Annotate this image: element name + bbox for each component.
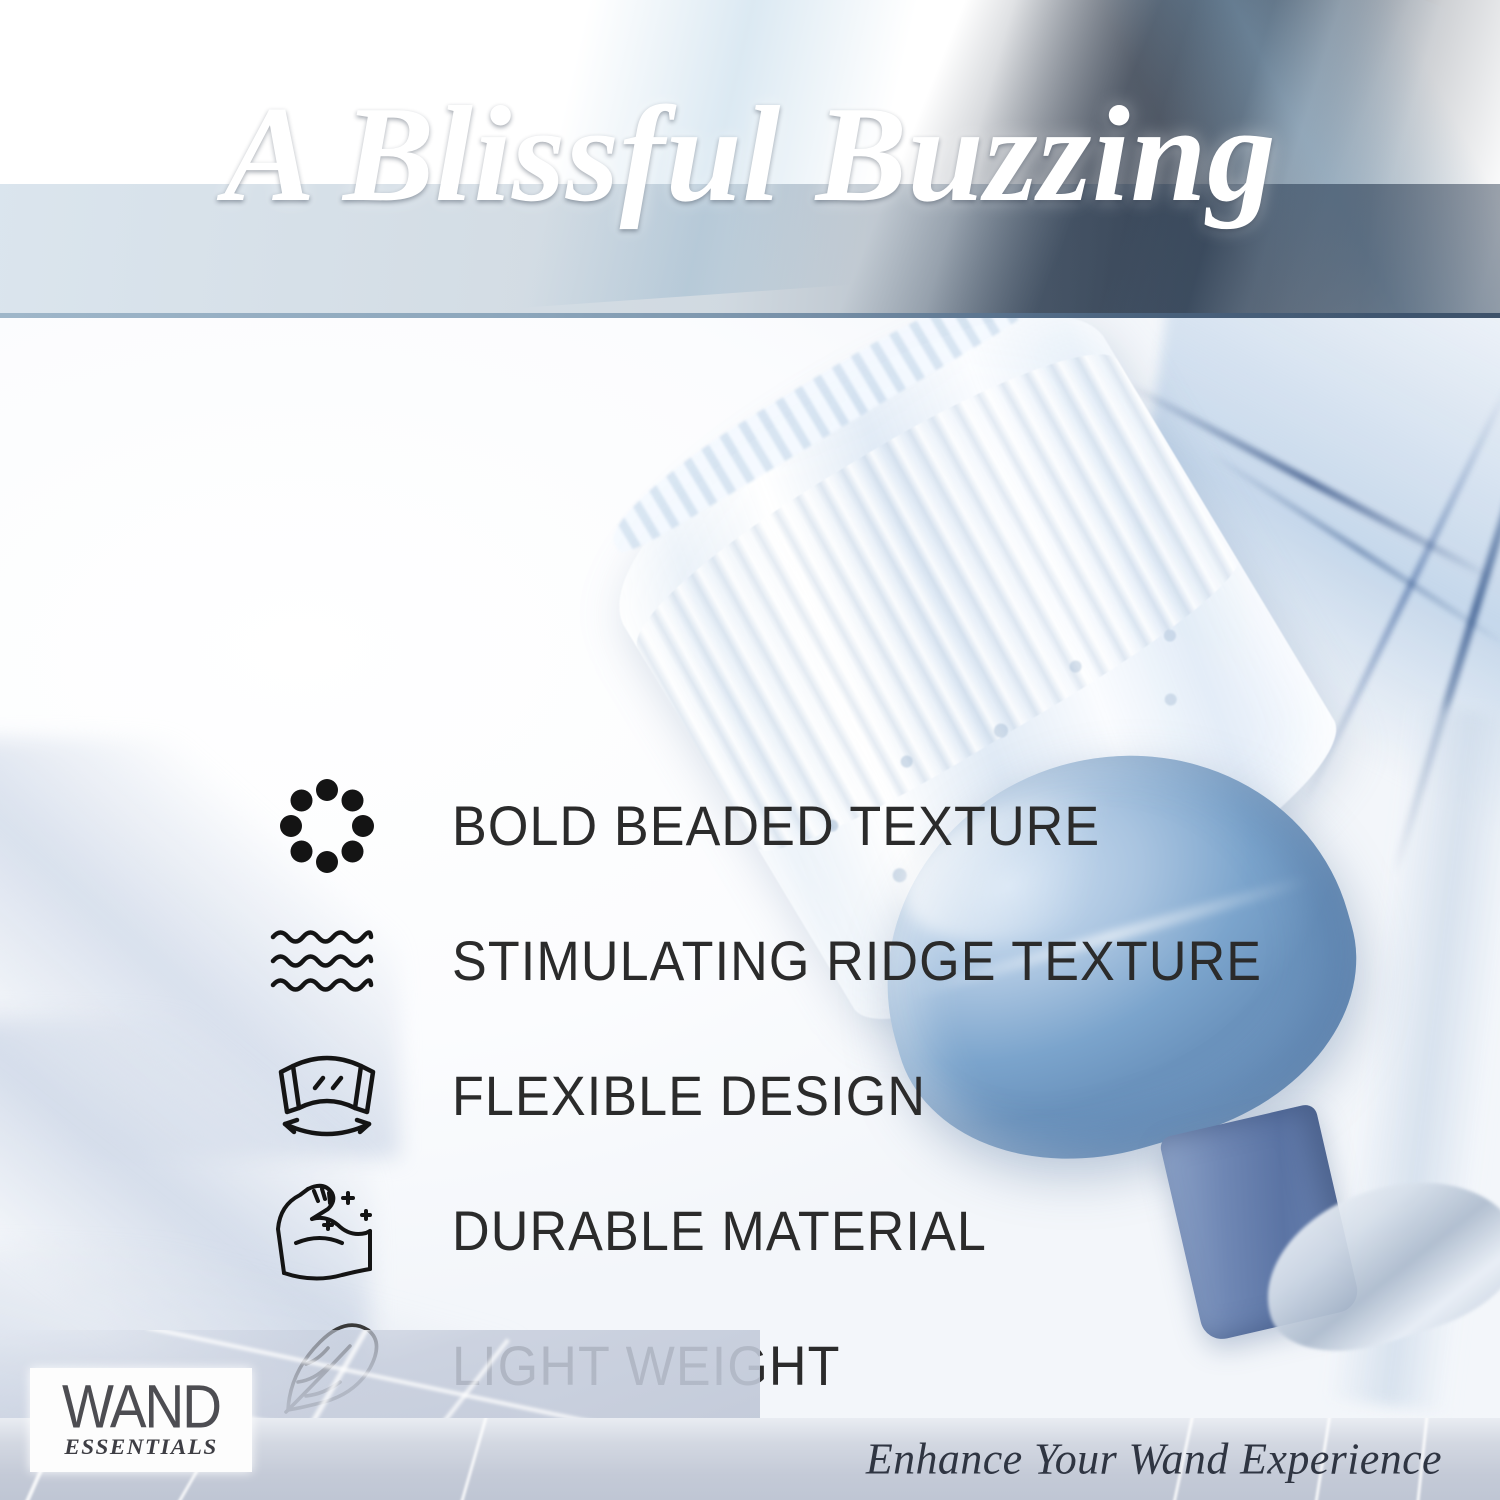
- footer-tagline: Enhance Your Wand Experience: [866, 1434, 1442, 1485]
- flexed-bicep-icon: [262, 1172, 392, 1290]
- logo-sub-name: ESSENTIALS: [64, 1434, 217, 1460]
- brand-logo: WAND ESSENTIALS: [30, 1368, 252, 1472]
- page-title: A Blissful Buzzing: [0, 0, 1500, 318]
- feature-row: STIMULATING RIDGE TEXTURE: [262, 893, 1262, 1028]
- product-marketing-image: A Blissful Buzzing: [0, 0, 1500, 1500]
- beaded-dots-circle-icon: [262, 767, 392, 885]
- footer-streak: [454, 1418, 490, 1500]
- feature-label: STIMULATING RIDGE TEXTURE: [452, 928, 1262, 993]
- header-banner: A Blissful Buzzing: [0, 0, 1500, 318]
- feature-list: BOLD BEADED TEXTURE STIMULATING RIDGE TE…: [262, 758, 1262, 1418]
- main-content: BOLD BEADED TEXTURE STIMULATING RIDGE TE…: [0, 318, 1500, 1418]
- feature-row: FLEXIBLE DESIGN: [262, 1028, 1262, 1163]
- feature-row: DURABLE MATERIAL: [262, 1163, 1262, 1298]
- feature-label: DURABLE MATERIAL: [452, 1198, 987, 1263]
- logo-brand-name: WAND: [62, 1377, 220, 1436]
- feature-label: FLEXIBLE DESIGN: [452, 1063, 926, 1128]
- wavy-lines-icon: [262, 902, 392, 1020]
- feature-label: BOLD BEADED TEXTURE: [452, 793, 1100, 858]
- feature-row: BOLD BEADED TEXTURE: [262, 758, 1262, 893]
- flexible-bend-icon: [262, 1037, 392, 1155]
